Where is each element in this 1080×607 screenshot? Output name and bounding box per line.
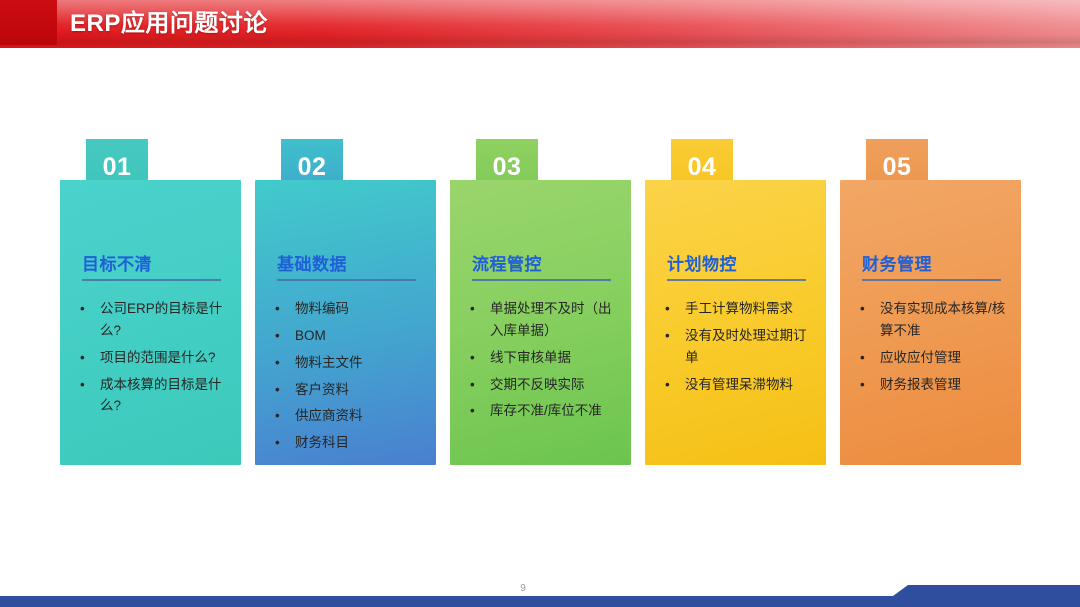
list-item-text: 单据处理不及时（出入库单据）: [490, 301, 612, 338]
list-item: • 库存不准/库位不准: [464, 400, 621, 422]
card-number-label: 03: [476, 153, 538, 182]
bullet-icon: •: [860, 347, 865, 369]
slide-header: ERP应用问题讨论: [0, 0, 1080, 48]
card-01[interactable]: 目标不清 • 公司ERP的目标是什么? • 项目的范围是什么? • 成本核算的目…: [60, 180, 241, 465]
list-item-text: 客户资料: [295, 382, 349, 397]
list-item: • 没有实现成本核算/核算不准: [854, 298, 1011, 342]
list-item-text: 项目的范围是什么?: [100, 350, 216, 365]
list-item-text: 交期不反映实际: [490, 377, 585, 392]
header-accent-block: [0, 0, 57, 45]
list-item: • 单据处理不及时（出入库单据）: [464, 298, 621, 342]
list-item-text: 没有及时处理过期订单: [685, 328, 807, 365]
bullet-icon: •: [80, 298, 85, 320]
bullet-icon: •: [275, 379, 280, 401]
card-group: 01 目标不清 • 公司ERP的目标是什么? • 项目的范围是什么? • 成本核…: [60, 139, 1020, 469]
card-number-label: 05: [866, 153, 928, 182]
card-title: 基础数据: [277, 250, 347, 275]
card-number-label: 01: [86, 153, 148, 182]
card-number-label: 02: [281, 153, 343, 182]
card-number-label: 04: [671, 153, 733, 182]
bullet-icon: •: [275, 325, 280, 347]
bullet-icon: •: [665, 325, 670, 347]
card-04[interactable]: 计划物控 • 手工计算物料需求 • 没有及时处理过期订单 • 没有管理呆滞物料: [645, 180, 826, 465]
card-bullet-list: • 手工计算物料需求 • 没有及时处理过期订单 • 没有管理呆滞物料: [659, 298, 816, 400]
card-title-divider: [472, 279, 611, 281]
list-item: • 供应商资料: [269, 405, 426, 427]
list-item: • 物料主文件: [269, 352, 426, 374]
bullet-icon: •: [275, 352, 280, 374]
list-item-text: 物料编码: [295, 301, 349, 316]
list-item: • 物料编码: [269, 298, 426, 320]
card-title: 财务管理: [862, 250, 932, 275]
card-bullet-list: • 公司ERP的目标是什么? • 项目的范围是什么? • 成本核算的目标是什么?: [74, 298, 231, 422]
card-title: 流程管控: [472, 250, 542, 275]
list-item: • 财务科目: [269, 432, 426, 454]
list-item-text: 公司ERP的目标是什么?: [100, 301, 222, 338]
list-item-text: 应收应付管理: [880, 350, 961, 365]
list-item-text: 库存不准/库位不准: [490, 403, 602, 418]
bullet-icon: •: [665, 298, 670, 320]
list-item: • 没有及时处理过期订单: [659, 325, 816, 369]
list-item: • BOM: [269, 325, 426, 347]
bullet-icon: •: [860, 374, 865, 396]
bullet-icon: •: [470, 298, 475, 320]
list-item-text: 成本核算的目标是什么?: [100, 377, 222, 414]
bullet-icon: •: [470, 374, 475, 396]
bullet-icon: •: [860, 298, 865, 320]
list-item-text: 线下审核单据: [490, 350, 571, 365]
list-item: • 项目的范围是什么?: [74, 347, 231, 369]
list-item: • 应收应付管理: [854, 347, 1011, 369]
bullet-icon: •: [80, 374, 85, 396]
list-item: • 交期不反映实际: [464, 374, 621, 396]
list-item-text: 手工计算物料需求: [685, 301, 793, 316]
card-title-divider: [82, 279, 221, 281]
list-item-text: 没有实现成本核算/核算不准: [880, 301, 1005, 338]
list-item: • 公司ERP的目标是什么?: [74, 298, 231, 342]
card-bullet-list: • 物料编码 • BOM • 物料主文件 • 客户资料 • 供应商资料 • 财务…: [269, 298, 426, 459]
page-number: 9: [510, 583, 536, 594]
bullet-icon: •: [80, 347, 85, 369]
page-title: ERP应用问题讨论: [70, 0, 268, 48]
list-item: • 手工计算物料需求: [659, 298, 816, 320]
bullet-icon: •: [470, 400, 475, 422]
card-title-divider: [862, 279, 1001, 281]
bullet-icon: •: [470, 347, 475, 369]
list-item-text: 没有管理呆滞物料: [685, 377, 793, 392]
card-bullet-list: • 单据处理不及时（出入库单据） • 线下审核单据 • 交期不反映实际 • 库存…: [464, 298, 621, 427]
bullet-icon: •: [275, 405, 280, 427]
list-item: • 线下审核单据: [464, 347, 621, 369]
list-item: • 客户资料: [269, 379, 426, 401]
list-item-text: BOM: [295, 328, 326, 343]
bullet-icon: •: [665, 374, 670, 396]
card-05[interactable]: 财务管理 • 没有实现成本核算/核算不准 • 应收应付管理 • 财务报表管理: [840, 180, 1021, 465]
list-item: • 没有管理呆滞物料: [659, 374, 816, 396]
list-item-text: 供应商资料: [295, 408, 363, 423]
list-item-text: 财务科目: [295, 435, 349, 450]
card-bullet-list: • 没有实现成本核算/核算不准 • 应收应付管理 • 财务报表管理: [854, 298, 1011, 400]
list-item: • 财务报表管理: [854, 374, 1011, 396]
card-title-divider: [667, 279, 806, 281]
list-item-text: 物料主文件: [295, 355, 363, 370]
list-item-text: 财务报表管理: [880, 377, 961, 392]
list-item: • 成本核算的目标是什么?: [74, 374, 231, 418]
bullet-icon: •: [275, 298, 280, 320]
card-title: 计划物控: [667, 250, 737, 275]
card-02[interactable]: 基础数据 • 物料编码 • BOM • 物料主文件 • 客户资料 • 供应商资料: [255, 180, 436, 465]
card-title: 目标不清: [82, 250, 152, 275]
card-title-divider: [277, 279, 416, 281]
card-03[interactable]: 流程管控 • 单据处理不及时（出入库单据） • 线下审核单据 • 交期不反映实际…: [450, 180, 631, 465]
bullet-icon: •: [275, 432, 280, 454]
